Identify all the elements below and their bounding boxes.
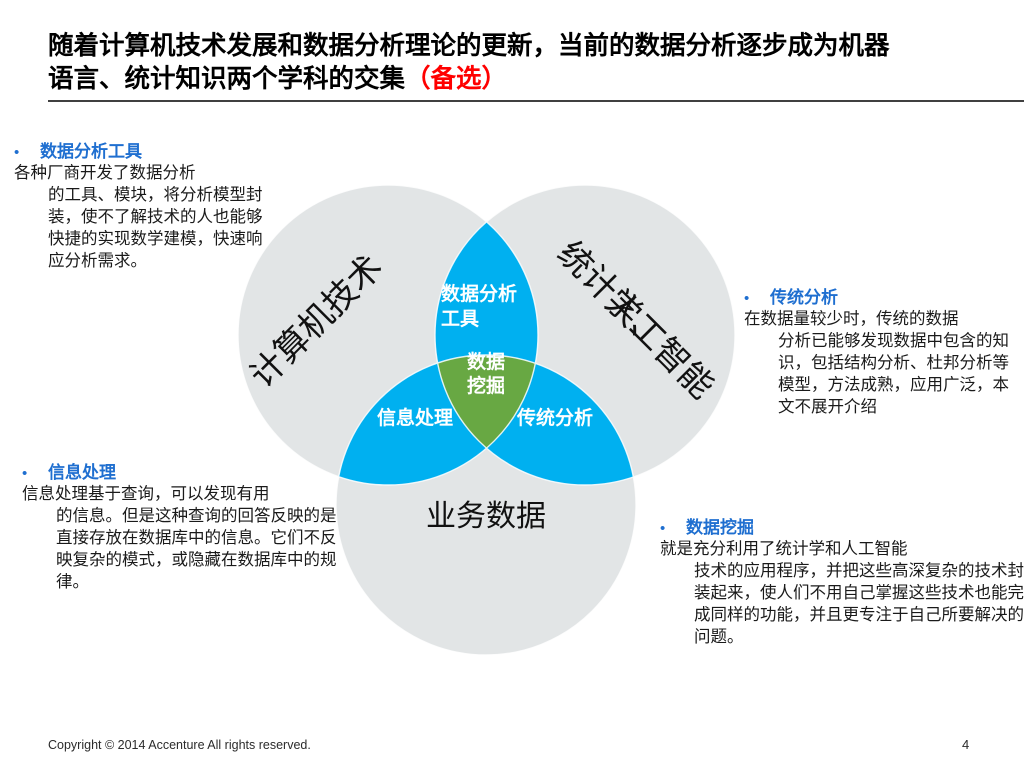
footer-copyright: Copyright © 2014 Accenture All rights re…	[48, 738, 311, 752]
callout-body: 信息处理基于查询，可以发现有用的信息。但是这种查询的回答反映的是直接存放在数据库…	[22, 484, 352, 594]
venn-label-analysis-tools-line2: 工具	[441, 308, 479, 330]
callout-body-lead: 在数据量较少时，传统的数据	[744, 310, 959, 328]
venn-label-traditional-analysis: 传统分析	[516, 406, 593, 429]
callout-traditional-analysis: • 传统分析 在数据量较少时，传统的数据分析已能够发现数据中包含的知识，包括结构…	[744, 288, 1024, 419]
callout-body: 在数据量较少时，传统的数据分析已能够发现数据中包含的知识，包括结构分析、杜邦分析…	[744, 309, 1024, 419]
callout-data-mining: • 数据挖掘 就是充分利用了统计学和人工智能技术的应用程序，并把这些高深复杂的技…	[660, 518, 1024, 649]
callout-body-lead: 信息处理基于查询，可以发现有用	[22, 485, 270, 503]
callout-body: 就是充分利用了统计学和人工智能技术的应用程序，并把这些高深复杂的技术封装起来，使…	[660, 539, 1024, 649]
callout-header: • 传统分析	[744, 288, 1024, 308]
callout-title: 数据分析工具	[40, 142, 142, 162]
venn-label-data-mining-line2: 挖掘	[467, 374, 505, 397]
callout-title: 传统分析	[770, 288, 838, 308]
bullet-icon: •	[22, 466, 48, 481]
callout-body-lead: 各种厂商开发了数据分析	[14, 164, 196, 182]
venn-label-business-data: 业务数据	[426, 500, 546, 533]
callout-header: • 数据挖掘	[660, 518, 1024, 538]
callout-body-lead: 就是充分利用了统计学和人工智能	[660, 540, 908, 558]
callout-header: • 数据分析工具	[14, 142, 266, 162]
callout-body-rest: 技术的应用程序，并把这些高深复杂的技术封装起来，使人们不用自己掌握这些技术也能完…	[660, 561, 1024, 649]
callout-title: 信息处理	[48, 463, 116, 483]
callout-body: 各种厂商开发了数据分析的工具、模块，将分析模型封装，使不了解技术的人也能够快捷的…	[14, 163, 266, 273]
callout-header: • 信息处理	[22, 463, 352, 483]
title-line-2: 语言、统计知识两个学科的交集	[48, 65, 405, 93]
callout-body-rest: 分析已能够发现数据中包含的知识，包括结构分析、杜邦分析等模型，方法成熟，应用广泛…	[744, 331, 1024, 419]
callout-information-processing: • 信息处理 信息处理基于查询，可以发现有用的信息。但是这种查询的回答反映的是直…	[22, 463, 352, 594]
title-alt-note: （备选）	[405, 65, 507, 93]
venn-label-info-processing: 信息处理	[377, 406, 453, 429]
bullet-icon: •	[660, 521, 686, 536]
slide-title-block: 随着计算机技术发展和数据分析理论的更新，当前的数据分析逐步成为机器语言、统计知识…	[48, 30, 1024, 95]
venn-label-data-mining-line1: 数据	[467, 350, 505, 373]
title-line-1: 随着计算机技术发展和数据分析理论的更新，当前的数据分析逐步成为机器	[48, 32, 890, 60]
title-underline-rule	[48, 100, 1024, 102]
bullet-icon: •	[14, 145, 40, 160]
page-number: 4	[962, 737, 969, 752]
bullet-icon: •	[744, 291, 770, 306]
callout-body-rest: 的信息。但是这种查询的回答反映的是直接存放在数据库中的信息。它们不反映复杂的模式…	[22, 506, 352, 594]
callout-title: 数据挖掘	[686, 518, 754, 538]
venn-label-analysis-tools-line1: 数据分析	[441, 282, 517, 305]
page-title: 随着计算机技术发展和数据分析理论的更新，当前的数据分析逐步成为机器语言、统计知识…	[48, 30, 1024, 95]
callout-data-analysis-tools: • 数据分析工具 各种厂商开发了数据分析的工具、模块，将分析模型封装，使不了解技…	[14, 142, 266, 273]
callout-body-rest: 的工具、模块，将分析模型封装，使不了解技术的人也能够快捷的实现数学建模，快速响应…	[14, 185, 266, 273]
